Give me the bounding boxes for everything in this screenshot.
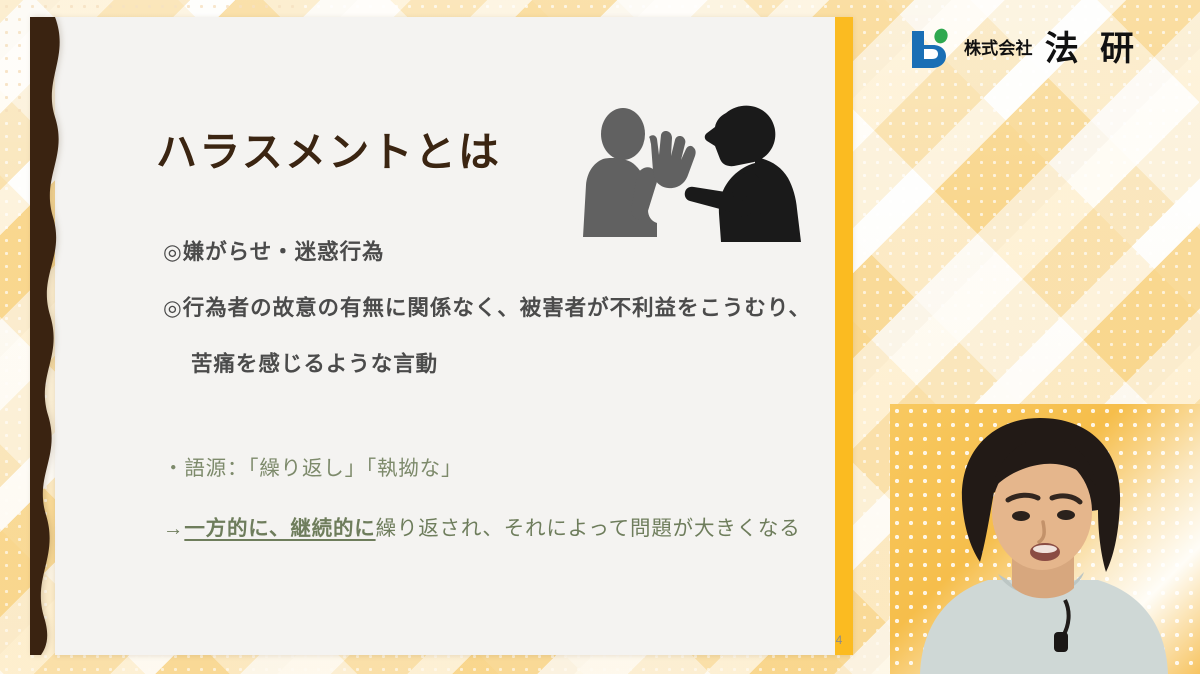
note-conclusion: →一方的に、継続的に繰り返され、それによって問題が大きくなる (163, 511, 853, 541)
note-conclusion-rest: 繰り返され、それによって問題が大きくなる (376, 517, 801, 540)
bullet-item: ◎行為者の故意の有無に関係なく、被害者が不利益をこうむり、 (163, 294, 853, 323)
logo-company-prefix: 株式会社 (964, 41, 1033, 58)
logo-company-name: 法 研 (1045, 32, 1139, 66)
bullet-item-continuation: 苦痛を感じるような言動 (163, 350, 853, 379)
slide-title: ハラスメントとは (156, 118, 501, 178)
logo-mark-icon (908, 27, 954, 71)
company-logo: 株式会社 法 研 (908, 25, 1139, 73)
presenter-video[interactable] (890, 404, 1200, 674)
note-etymology: ・語源：「繰り返し」「執拗な」 (163, 451, 853, 481)
slide-body: ◎嫌がらせ・迷惑行為 ◎行為者の故意の有無に関係なく、被害者が不利益をこうむり、… (163, 238, 853, 379)
bullet-item: ◎嫌がらせ・迷惑行為 (163, 238, 853, 267)
slide-left-wave-band (0, 17, 73, 655)
note-conclusion-arrow: → (163, 517, 184, 540)
screen: 株式会社 法 研 ハラスメントとは (0, 0, 1200, 674)
note-conclusion-highlight: 一方的に、継続的に (184, 517, 375, 540)
page-number: 4 (836, 633, 843, 647)
slide-notes: ・語源：「繰り返し」「執拗な」 →一方的に、継続的に繰り返され、それによって問題… (163, 451, 853, 541)
harassment-silhouette-icon (579, 99, 813, 247)
presentation-slide: ハラスメントとは (55, 17, 853, 655)
presenter-person (890, 404, 1200, 674)
